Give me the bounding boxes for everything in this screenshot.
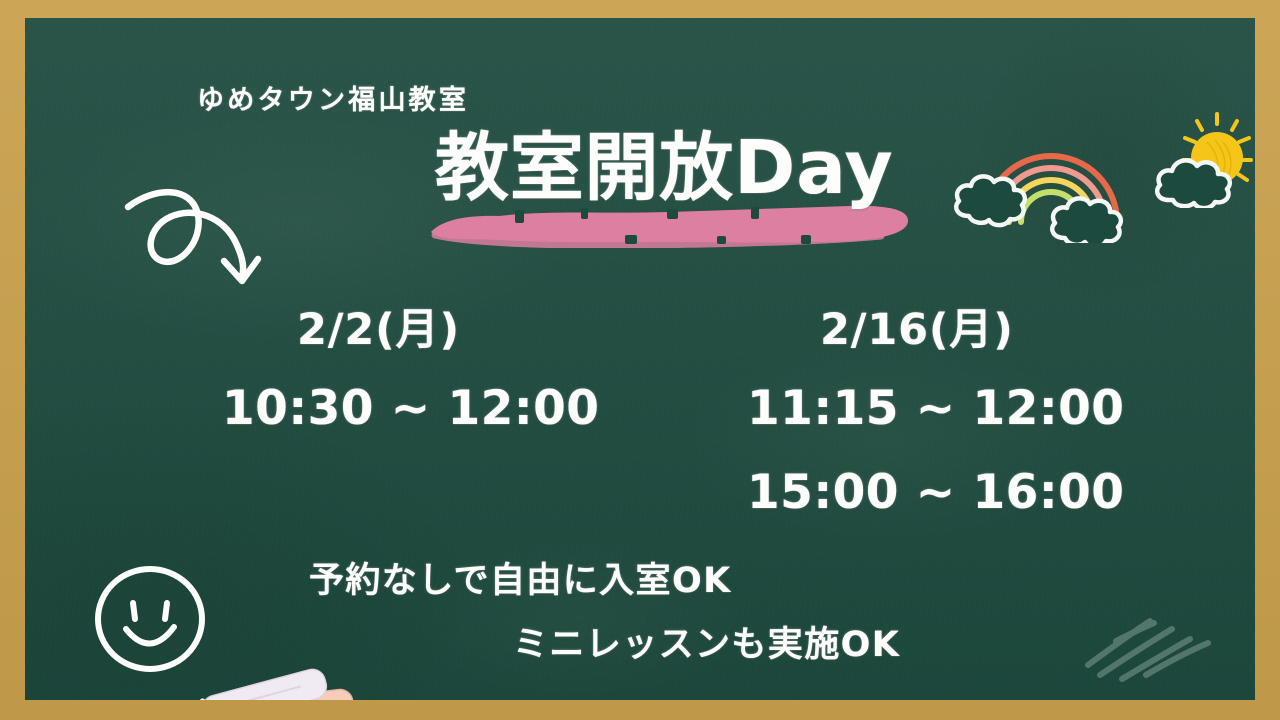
classroom-subtitle: ゆめタウン福山教室 [197, 78, 469, 117]
curly-arrow-icon [120, 181, 285, 291]
poster-canvas: ゆめタウン福山教室 教室開放Day 2/2(月) 10:30 ~ 12:00 2… [0, 0, 1280, 720]
chalk-sticks-icon [175, 650, 365, 700]
note-line-1: 予約なしで自由に入室OK [309, 552, 732, 603]
schedule-time-2a: 11:15 ~ 12:00 [747, 381, 1124, 436]
page-title: 教室開放Day [435, 131, 894, 205]
chalk-scribble-icon [1070, 603, 1245, 688]
sun-behind-cloud-icon [1155, 108, 1255, 208]
schedule-date-2: 2/16(月) [820, 295, 1014, 357]
schedule-date-1: 2/2(月) [297, 295, 460, 357]
note-line-2: ミニレッスンも実施OK [513, 616, 900, 667]
schedule-time-2b: 15:00 ~ 16:00 [747, 465, 1124, 520]
chalkboard: ゆめタウン福山教室 教室開放Day 2/2(月) 10:30 ~ 12:00 2… [25, 18, 1255, 700]
rainbow-icon [953, 118, 1153, 243]
schedule-time-1a: 10:30 ~ 12:00 [222, 381, 599, 436]
